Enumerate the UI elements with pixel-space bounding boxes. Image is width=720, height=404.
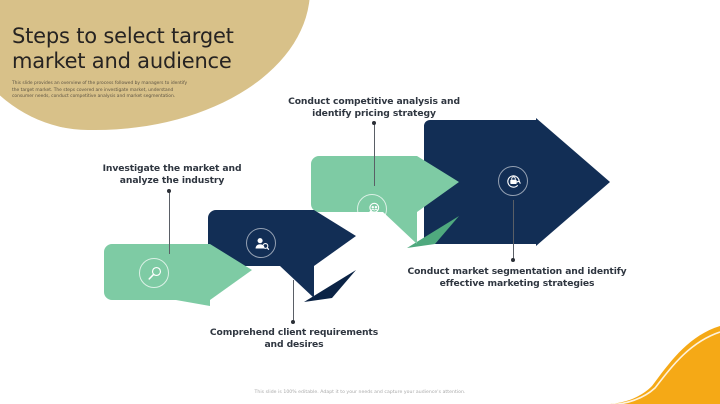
footer-note: This slide is 100% editable. Adapt it to…	[0, 390, 720, 395]
segmentation-icon	[498, 166, 528, 196]
title-block: Steps to select target market and audien…	[12, 24, 267, 101]
magnifier-icon	[139, 258, 169, 288]
step-2-leader-dot	[291, 320, 295, 324]
step-3-leader-dot	[372, 121, 376, 125]
step-3-leader-line	[374, 124, 375, 186]
step-1-label: Investigate the market and analyze the i…	[82, 163, 262, 187]
page-title: Steps to select target market and audien…	[12, 24, 267, 74]
step-2-leader-line	[293, 280, 294, 322]
step-1-leader-dot	[167, 189, 171, 193]
step-4-leader-dot	[511, 258, 515, 262]
page-subtitle: This slide provides an overview of the p…	[12, 81, 194, 101]
step-4-leader-line	[513, 200, 514, 260]
step-1-leader-line	[169, 192, 170, 254]
competitive-analysis-icon	[357, 194, 387, 224]
slide-canvas: Steps to select target market and audien…	[0, 0, 720, 404]
step-4-label: Conduct market segmentation and identify…	[398, 266, 636, 290]
step-1-arrow[interactable]	[104, 244, 252, 310]
step-3-label: Conduct competitive analysis and identif…	[272, 96, 476, 120]
step-2-label: Comprehend client requirements and desir…	[203, 327, 385, 351]
